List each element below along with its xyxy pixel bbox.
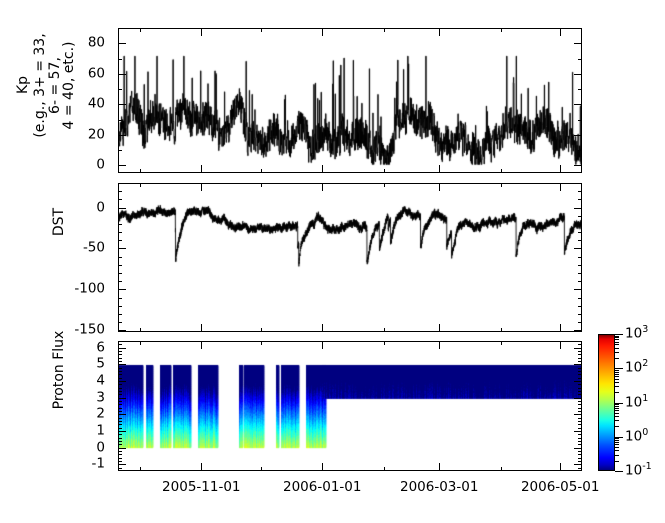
proton-minor-tick: [578, 424, 582, 425]
dst-minor-tick: [118, 232, 122, 233]
kp-panel: [118, 28, 582, 173]
proton-xminor-tick: [384, 341, 385, 345]
kp-xminor-tick: [261, 28, 262, 32]
dst-minor-tick: [118, 265, 122, 266]
proton-major-tick: [118, 464, 126, 465]
dst-minor-tick: [118, 298, 122, 299]
dst-major-tick: [118, 330, 126, 331]
dst-series-canvas: [119, 184, 581, 331]
proton-xminor-tick: [140, 341, 141, 345]
colorbar-minor-tick: [615, 410, 619, 411]
proton-minor-tick: [578, 411, 582, 412]
dst-panel: [118, 183, 582, 332]
colorbar-tick-label: 10-1: [625, 464, 652, 478]
proton-minor-tick: [578, 374, 582, 375]
proton-minor-tick: [118, 411, 122, 412]
proton-major-tick: [574, 381, 582, 382]
proton-minor-tick: [118, 391, 122, 392]
kp-major-tick: [574, 74, 582, 75]
proton-major-tick: [118, 348, 126, 349]
proton-minor-tick: [118, 378, 122, 379]
proton-minor-tick: [118, 358, 122, 359]
colorbar-major-tick: [615, 471, 623, 472]
proton-xminor-tick: [501, 467, 502, 471]
colorbar-minor-tick: [615, 348, 619, 349]
dst-xmajor-tick: [322, 324, 323, 332]
proton-flux-panel: [118, 341, 582, 471]
dst-axis-title: DST: [52, 162, 68, 282]
colorbar-minor-tick: [615, 426, 619, 427]
dst-minor-tick: [118, 273, 122, 274]
proton-minor-tick: [578, 428, 582, 429]
dst-xminor-tick: [140, 183, 141, 187]
kp-major-tick: [574, 165, 582, 166]
kp-minor-tick: [118, 59, 122, 60]
colorbar-minor-tick: [615, 392, 619, 393]
proton-xmajor-tick: [201, 341, 202, 349]
dst-xmajor-tick: [560, 324, 561, 332]
proton-minor-tick: [118, 451, 122, 452]
kp-ytick-label: 40: [0, 97, 105, 111]
proton-xminor-tick: [384, 467, 385, 471]
colorbar-major-tick: [615, 403, 623, 404]
colorbar-minor-tick: [615, 336, 619, 337]
kp-ytick-label: 80: [0, 36, 105, 50]
kp-minor-tick: [118, 89, 122, 90]
dst-minor-tick: [578, 240, 582, 241]
proton-minor-tick: [578, 458, 582, 459]
dst-xminor-tick: [140, 328, 141, 332]
proton-xminor-tick: [140, 467, 141, 471]
dst-minor-tick: [118, 281, 122, 282]
dst-xmajor-tick: [560, 183, 561, 191]
colorbar-minor-tick: [615, 379, 619, 380]
proton-minor-tick: [118, 404, 122, 405]
kp-xmajor-tick: [201, 165, 202, 173]
kp-major-tick: [118, 135, 126, 136]
proton-minor-tick: [578, 468, 582, 469]
colorbar-minor-tick: [615, 442, 619, 443]
proton-minor-tick: [578, 388, 582, 389]
colorbar-major-tick: [615, 437, 623, 438]
dst-xmajor-tick: [439, 324, 440, 332]
xaxis-tick-label: 2005-11-01: [162, 481, 240, 495]
proton-major-tick: [118, 398, 126, 399]
colorbar-minor-tick: [615, 382, 619, 383]
dst-minor-tick: [578, 273, 582, 274]
kp-xminor-tick: [384, 169, 385, 173]
colorbar: [598, 334, 615, 471]
kp-major-tick: [118, 43, 126, 44]
dst-ytick-label: -100: [0, 282, 105, 296]
proton-major-tick: [118, 431, 126, 432]
proton-minor-tick: [578, 451, 582, 452]
proton-xminor-tick: [261, 341, 262, 345]
kp-axis-title: Kp: [16, 0, 31, 170]
dst-minor-tick: [578, 216, 582, 217]
proton-ytick-label: 5: [0, 357, 105, 371]
dst-xmajor-tick: [201, 183, 202, 191]
proton-minor-tick: [578, 384, 582, 385]
dst-xmajor-tick: [201, 324, 202, 332]
proton-minor-tick: [578, 371, 582, 372]
proton-minor-tick: [118, 361, 122, 362]
colorbar-tick-label: 103: [625, 327, 648, 341]
colorbar-minor-tick: [615, 386, 619, 387]
dst-minor-tick: [578, 314, 582, 315]
proton-ytick-label: 4: [0, 374, 105, 388]
proton-minor-tick: [118, 341, 122, 342]
proton-major-tick: [574, 448, 582, 449]
kp-minor-tick: [578, 59, 582, 60]
kp-xmajor-tick: [322, 28, 323, 36]
colorbar-minor-tick: [615, 406, 619, 407]
proton-minor-tick: [118, 418, 122, 419]
proton-xminor-tick: [261, 467, 262, 471]
dst-major-tick: [574, 248, 582, 249]
dst-plot-area: [119, 184, 581, 331]
proton-minor-tick: [578, 441, 582, 442]
proton-minor-tick: [118, 428, 122, 429]
colorbar-minor-tick: [615, 461, 619, 462]
dst-major-tick: [574, 289, 582, 290]
colorbar-tick-label: 101: [625, 396, 648, 410]
proton-major-tick: [574, 364, 582, 365]
colorbar-minor-tick: [615, 342, 619, 343]
kp-xminor-tick: [261, 169, 262, 173]
colorbar-minor-tick: [615, 374, 619, 375]
kp-ytick-label: 60: [0, 67, 105, 81]
colorbar-minor-tick: [615, 413, 619, 414]
dst-minor-tick: [578, 265, 582, 266]
proton-flux-plot-area: [119, 342, 581, 470]
proton-minor-tick: [118, 444, 122, 445]
proton-major-tick: [574, 431, 582, 432]
proton-minor-tick: [578, 358, 582, 359]
proton-minor-tick: [578, 351, 582, 352]
dst-minor-tick: [118, 306, 122, 307]
dst-minor-tick: [578, 199, 582, 200]
colorbar-minor-tick: [615, 420, 619, 421]
proton-minor-tick: [118, 461, 122, 462]
dst-ytick-label: -50: [0, 241, 105, 255]
proton-minor-tick: [578, 438, 582, 439]
proton-major-tick: [574, 464, 582, 465]
kp-axis-title-detail: (e.g., 3+ = 33, 6- = 57, 4 = 40, etc.): [33, 0, 77, 178]
colorbar-minor-tick: [615, 372, 619, 373]
proton-major-tick: [118, 364, 126, 365]
proton-minor-tick: [118, 401, 122, 402]
proton-xmajor-tick: [439, 341, 440, 349]
dst-xminor-tick: [501, 328, 502, 332]
proton-ytick-label: 1: [0, 424, 105, 438]
dst-xmajor-tick: [439, 183, 440, 191]
proton-minor-tick: [118, 408, 122, 409]
proton-minor-tick: [578, 421, 582, 422]
proton-minor-tick: [118, 384, 122, 385]
proton-minor-tick: [118, 424, 122, 425]
proton-minor-tick: [578, 368, 582, 369]
proton-ytick-label: -1: [0, 457, 105, 471]
dst-xmajor-tick: [322, 183, 323, 191]
proton-minor-tick: [118, 434, 122, 435]
colorbar-minor-tick: [615, 440, 619, 441]
kp-xmajor-tick: [560, 28, 561, 36]
dst-minor-tick: [578, 224, 582, 225]
colorbar-tick-label: 100: [625, 430, 648, 444]
kp-xmajor-tick: [322, 165, 323, 173]
colorbar-minor-tick: [615, 376, 619, 377]
figure-root: Kp (e.g., 3+ = 33, 6- = 57, 4 = 40, etc.…: [0, 0, 665, 523]
xaxis-tick-label: 2006-03-01: [400, 481, 478, 495]
dst-major-tick: [118, 248, 126, 249]
proton-minor-tick: [118, 458, 122, 459]
dst-xminor-tick: [501, 183, 502, 187]
dst-xminor-tick: [261, 328, 262, 332]
dst-minor-tick: [578, 257, 582, 258]
dst-xminor-tick: [261, 183, 262, 187]
proton-xmajor-tick: [322, 463, 323, 471]
dst-minor-tick: [118, 199, 122, 200]
dst-major-tick: [118, 289, 126, 290]
kp-major-tick: [574, 43, 582, 44]
proton-minor-tick: [578, 461, 582, 462]
proton-major-tick: [118, 448, 126, 449]
kp-major-tick: [118, 104, 126, 105]
dst-xminor-tick: [384, 183, 385, 187]
proton-ytick-label: 2: [0, 407, 105, 421]
proton-minor-tick: [118, 388, 122, 389]
colorbar-minor-tick: [615, 455, 619, 456]
dst-minor-tick: [118, 191, 122, 192]
dst-xminor-tick: [384, 328, 385, 332]
proton-minor-tick: [118, 454, 122, 455]
colorbar-minor-tick: [615, 416, 619, 417]
kp-minor-tick: [118, 150, 122, 151]
kp-major-tick: [574, 104, 582, 105]
dst-minor-tick: [118, 240, 122, 241]
colorbar-minor-tick: [615, 370, 619, 371]
kp-major-tick: [118, 74, 126, 75]
colorbar-major-tick: [615, 334, 623, 335]
proton-major-tick: [574, 348, 582, 349]
kp-xmajor-tick: [201, 28, 202, 36]
dst-minor-tick: [578, 306, 582, 307]
kp-axis-title-line2: (e.g., 3+ = 33,: [33, 0, 48, 178]
kp-xmajor-tick: [439, 28, 440, 36]
kp-minor-tick: [118, 120, 122, 121]
kp-xmajor-tick: [560, 165, 561, 173]
kp-xminor-tick: [140, 28, 141, 32]
kp-minor-tick: [578, 89, 582, 90]
proton-ytick-label: 3: [0, 391, 105, 405]
proton-xmajor-tick: [560, 341, 561, 349]
dst-minor-tick: [118, 183, 122, 184]
colorbar-minor-tick: [615, 339, 619, 340]
proton-flux-spectrogram-canvas: [119, 342, 581, 470]
dst-ytick-label: 0: [0, 201, 105, 215]
colorbar-minor-tick: [615, 450, 619, 451]
colorbar-major-tick: [615, 368, 623, 369]
dst-major-tick: [574, 330, 582, 331]
xaxis-tick-label: 2006-05-01: [521, 481, 599, 495]
proton-minor-tick: [118, 351, 122, 352]
colorbar-tick-label: 102: [625, 361, 648, 375]
kp-major-tick: [118, 165, 126, 166]
proton-minor-tick: [118, 374, 122, 375]
kp-xminor-tick: [501, 28, 502, 32]
proton-minor-tick: [578, 401, 582, 402]
kp-minor-tick: [118, 28, 122, 29]
proton-ytick-label: 6: [0, 341, 105, 355]
proton-xmajor-tick: [322, 341, 323, 349]
xaxis-tick-label: 2006-01-01: [283, 481, 361, 495]
proton-minor-tick: [118, 368, 122, 369]
proton-minor-tick: [118, 394, 122, 395]
proton-minor-tick: [118, 354, 122, 355]
dst-major-tick: [574, 208, 582, 209]
proton-minor-tick: [578, 454, 582, 455]
kp-xminor-tick: [384, 28, 385, 32]
kp-axis-title-line4: 4 = 40, etc.): [62, 0, 77, 178]
proton-xmajor-tick: [560, 463, 561, 471]
proton-minor-tick: [578, 344, 582, 345]
kp-minor-tick: [578, 28, 582, 29]
proton-minor-tick: [578, 391, 582, 392]
kp-axis-title-line1: Kp: [16, 0, 31, 170]
dst-minor-tick: [118, 314, 122, 315]
proton-minor-tick: [578, 394, 582, 395]
kp-plot-area: [119, 29, 581, 172]
proton-minor-tick: [578, 408, 582, 409]
proton-minor-tick: [578, 404, 582, 405]
dst-minor-tick: [578, 232, 582, 233]
proton-xmajor-tick: [439, 463, 440, 471]
proton-minor-tick: [578, 361, 582, 362]
proton-minor-tick: [118, 441, 122, 442]
proton-minor-tick: [578, 378, 582, 379]
dst-minor-tick: [118, 322, 122, 323]
proton-minor-tick: [578, 354, 582, 355]
proton-minor-tick: [118, 421, 122, 422]
dst-minor-tick: [578, 281, 582, 282]
kp-xminor-tick: [140, 169, 141, 173]
proton-xminor-tick: [501, 341, 502, 345]
proton-minor-tick: [578, 341, 582, 342]
kp-axis-title-line3: 6- = 57,: [48, 0, 63, 178]
colorbar-minor-tick: [615, 358, 619, 359]
colorbar-minor-tick: [615, 444, 619, 445]
proton-major-tick: [574, 414, 582, 415]
kp-minor-tick: [578, 150, 582, 151]
dst-minor-tick: [118, 216, 122, 217]
proton-major-tick: [118, 381, 126, 382]
proton-major-tick: [574, 398, 582, 399]
proton-xmajor-tick: [201, 463, 202, 471]
colorbar-minor-tick: [615, 408, 619, 409]
kp-ytick-label: 20: [0, 128, 105, 142]
dst-major-tick: [118, 208, 126, 209]
dst-minor-tick: [578, 191, 582, 192]
dst-minor-tick: [578, 183, 582, 184]
colorbar-minor-tick: [615, 352, 619, 353]
proton-minor-tick: [578, 418, 582, 419]
proton-minor-tick: [118, 438, 122, 439]
kp-xmajor-tick: [439, 165, 440, 173]
proton-minor-tick: [118, 371, 122, 372]
proton-minor-tick: [578, 434, 582, 435]
dst-minor-tick: [118, 257, 122, 258]
dst-minor-tick: [578, 298, 582, 299]
kp-major-tick: [574, 135, 582, 136]
kp-xminor-tick: [501, 169, 502, 173]
colorbar-minor-tick: [615, 344, 619, 345]
proton-minor-tick: [578, 444, 582, 445]
kp-minor-tick: [578, 120, 582, 121]
proton-minor-tick: [118, 344, 122, 345]
proton-minor-tick: [118, 468, 122, 469]
colorbar-minor-tick: [615, 447, 619, 448]
proton-ytick-label: 0: [0, 441, 105, 455]
kp-series-canvas: [119, 29, 581, 172]
proton-major-tick: [118, 414, 126, 415]
dst-minor-tick: [578, 322, 582, 323]
dst-minor-tick: [118, 224, 122, 225]
